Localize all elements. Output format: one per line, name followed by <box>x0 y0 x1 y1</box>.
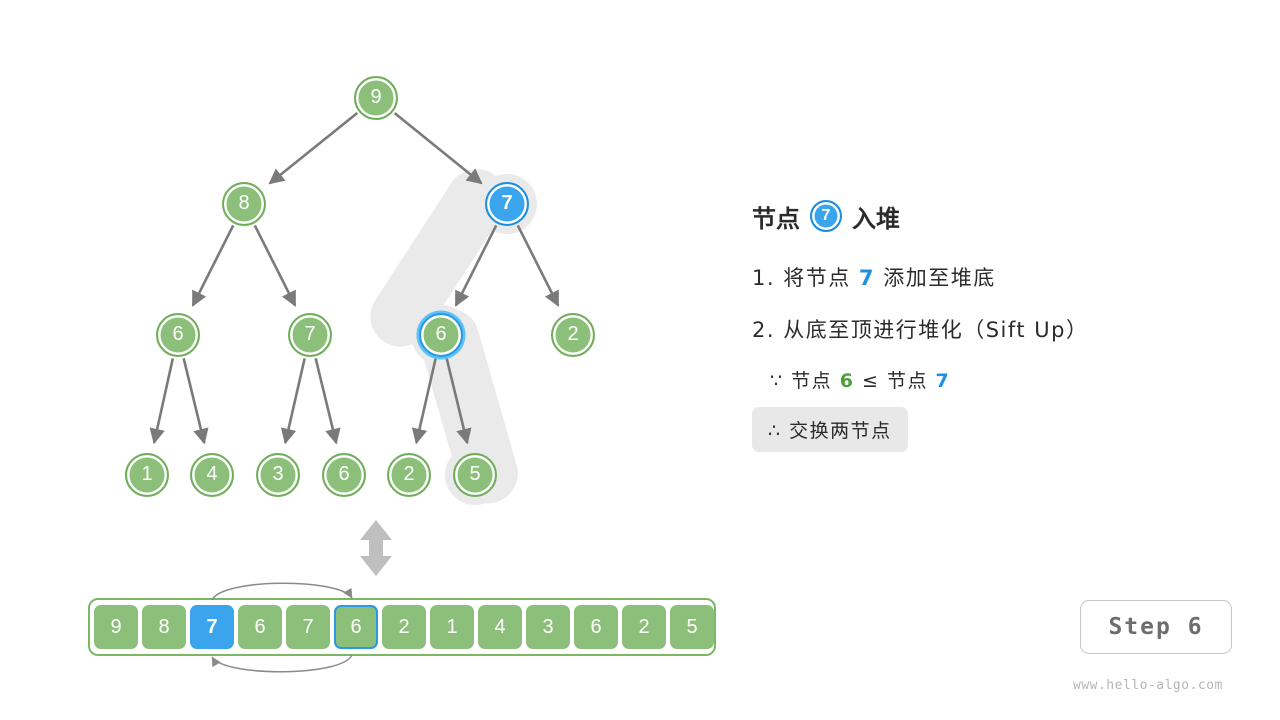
tree-node-label: 6 <box>172 324 183 344</box>
tree-node-n6: 2 <box>551 313 595 357</box>
array-cell-4: 7 <box>286 605 330 649</box>
array-cell-1: 8 <box>142 605 186 649</box>
conclusion-box: ∴ 交换两节点 <box>752 407 908 452</box>
panel-title-suffix: 入堆 <box>852 199 900 234</box>
tree-node-label: 8 <box>238 193 249 213</box>
array-cell-2: 7 <box>190 605 234 649</box>
array-cell-10: 6 <box>574 605 618 649</box>
tree-node-n12: 5 <box>453 453 497 497</box>
step-badge: Step 6 <box>1080 600 1232 654</box>
array-cell-12: 5 <box>670 605 714 649</box>
tree-node-n1: 8 <box>222 182 266 226</box>
tree-node-label: 6 <box>435 324 446 344</box>
tree-node-n10: 6 <box>322 453 366 497</box>
array-cell-3: 6 <box>238 605 282 649</box>
tree-node-label: 7 <box>304 324 315 344</box>
tree-node-n8: 4 <box>190 453 234 497</box>
array-cell-7: 1 <box>430 605 474 649</box>
tree-node-n11: 2 <box>387 453 431 497</box>
tree-node-n4: 7 <box>288 313 332 357</box>
diagram-canvas: 9876762143625 9876762143625 节点 7 入堆 1. 将… <box>0 0 1280 720</box>
tree-node-label: 5 <box>469 464 480 484</box>
array-cell-6: 2 <box>382 605 426 649</box>
step-list: 1. 将节点 7 添加至堆底 2. 从底至顶进行堆化（Sift Up） ∵ 节点… <box>752 262 1252 452</box>
step-1-value: 7 <box>859 266 875 290</box>
tree-node-n5: 6 <box>419 313 463 357</box>
tree-nodes: 9876762143625 <box>0 0 740 560</box>
tree-node-label: 2 <box>403 464 414 484</box>
reason-value-1: 6 <box>840 370 855 392</box>
step-1-text-a: 1. 将节点 <box>752 266 851 290</box>
step-item-2: 2. 从底至顶进行堆化（Sift Up） <box>752 314 1252 344</box>
tree-node-label: 4 <box>206 464 217 484</box>
tree-node-label: 2 <box>567 324 578 344</box>
tree-node-n7: 1 <box>125 453 169 497</box>
array-cell-9: 3 <box>526 605 570 649</box>
array-cell-11: 2 <box>622 605 666 649</box>
reason-text-b: 节点 <box>887 370 928 392</box>
reason-value-2: 7 <box>936 370 951 392</box>
tree-node-n2: 7 <box>485 182 529 226</box>
tree-node-label: 1 <box>141 464 152 484</box>
array-cell-8: 4 <box>478 605 522 649</box>
reason-line: ∵ 节点 6 ≤ 节点 7 <box>770 366 1252 393</box>
panel-title-badge: 7 <box>810 200 842 232</box>
watermark: www.hello-algo.com <box>1073 678 1223 693</box>
tree-node-label: 6 <box>338 464 349 484</box>
tree-node-label: 7 <box>501 193 512 213</box>
array-cell-5: 6 <box>334 605 378 649</box>
tree-node-n0: 9 <box>354 76 398 120</box>
tree-node-label: 9 <box>370 87 381 107</box>
step-1-text-b: 添加至堆底 <box>883 266 996 290</box>
tree-node-n3: 6 <box>156 313 200 357</box>
explanation-panel: 节点 7 入堆 1. 将节点 7 添加至堆底 2. 从底至顶进行堆化（Sift … <box>752 196 1252 452</box>
step-item-1: 1. 将节点 7 添加至堆底 <box>752 262 1252 292</box>
tree-node-n9: 3 <box>256 453 300 497</box>
array-cell-0: 9 <box>94 605 138 649</box>
reason-operator: ≤ <box>862 370 879 392</box>
tree-node-label: 3 <box>272 464 283 484</box>
reason-text-a: ∵ 节点 <box>770 370 832 392</box>
heap-array: 9876762143625 <box>88 598 716 656</box>
panel-title: 节点 7 入堆 <box>752 196 1252 236</box>
panel-title-prefix: 节点 <box>752 199 800 234</box>
